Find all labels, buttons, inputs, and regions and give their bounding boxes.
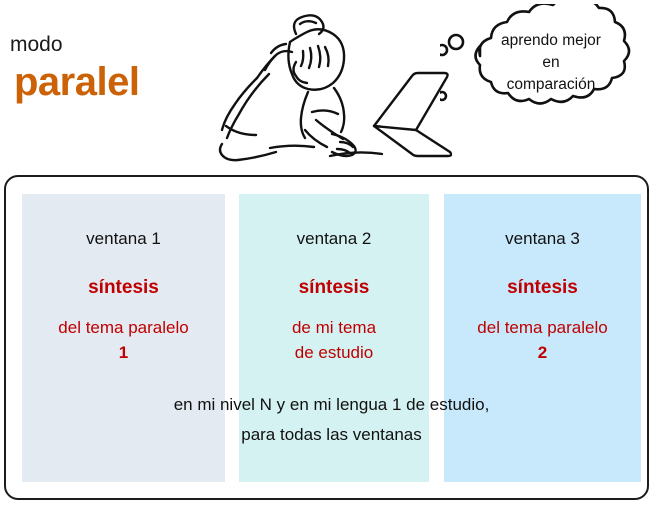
window-column-3: ventana 3 síntesis del tema paralelo 2 bbox=[444, 194, 641, 482]
window-2-label: ventana 2 bbox=[239, 230, 429, 247]
window-2-detail-line-1: de mi tema bbox=[239, 316, 429, 341]
header-area: modo paralel bbox=[0, 0, 657, 172]
window-1-label: ventana 1 bbox=[22, 230, 225, 247]
window-3-detail-line-2: 2 bbox=[444, 341, 641, 366]
window-2-heading: síntesis bbox=[239, 278, 429, 297]
thought-bubble-text: aprendo mejor en comparación bbox=[462, 30, 640, 96]
window-column-2: ventana 2 síntesis de mi tema de estudio bbox=[239, 194, 429, 482]
window-3-label: ventana 3 bbox=[444, 230, 641, 247]
header-kicker: modo bbox=[10, 34, 63, 55]
window-1-detail-line-1: del tema paralelo bbox=[22, 316, 225, 341]
thought-bubble-line-1: aprendo mejor bbox=[462, 30, 640, 52]
window-3-detail: del tema paralelo 2 bbox=[444, 316, 641, 365]
parallel-mode-panel: ventana 1 síntesis del tema paralelo 1 v… bbox=[4, 175, 649, 500]
window-1-detail: del tema paralelo 1 bbox=[22, 316, 225, 365]
window-3-detail-line-1: del tema paralelo bbox=[444, 316, 641, 341]
window-1-heading: síntesis bbox=[22, 278, 225, 297]
student-at-laptop-icon bbox=[212, 4, 452, 176]
thought-bubble-line-2: en bbox=[462, 52, 640, 74]
window-2-detail-line-2: de estudio bbox=[239, 341, 429, 366]
window-3-heading: síntesis bbox=[444, 278, 641, 297]
thought-bubble-line-3: comparación bbox=[462, 74, 640, 96]
window-2-detail: de mi tema de estudio bbox=[239, 316, 429, 365]
window-column-1: ventana 1 síntesis del tema paralelo 1 bbox=[22, 194, 225, 482]
page-title: paralel bbox=[14, 62, 139, 102]
window-1-detail-line-2: 1 bbox=[22, 341, 225, 366]
